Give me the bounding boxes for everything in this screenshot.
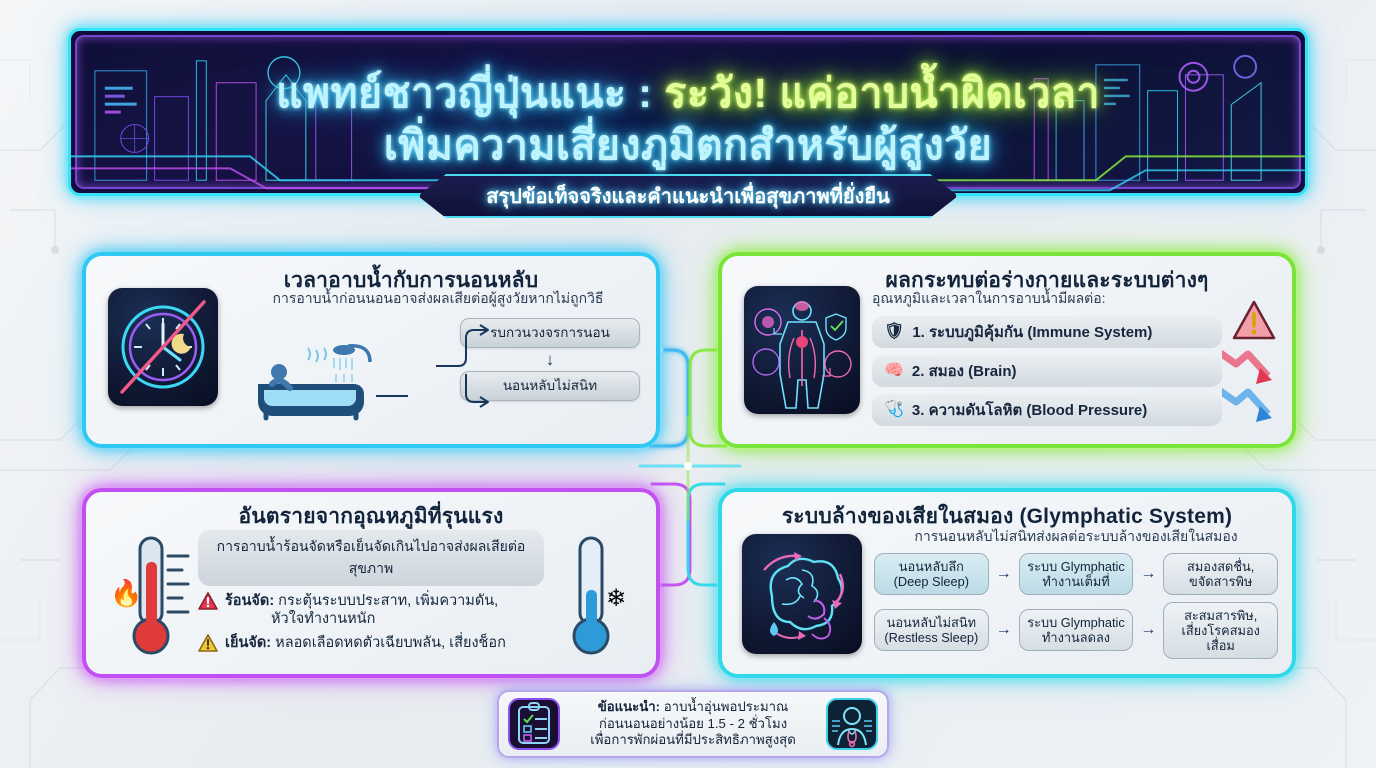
title-part-cyan: แพทย์ชาวญี่ปุ่นแนะ : bbox=[276, 70, 664, 116]
yellow-warning-icon bbox=[198, 634, 218, 653]
list-item[interactable]: 🧠 2. สมอง (Brain) bbox=[872, 355, 1222, 387]
flow-row-deep-sleep: นอนหลับลึก(Deep Sleep) → ระบบ Glymphatic… bbox=[874, 553, 1278, 595]
flame-icon: 🔥 bbox=[110, 578, 142, 608]
warning-hot-text-2: หัวใจทำงานหนัก bbox=[225, 610, 498, 628]
doctor-avatar-icon bbox=[825, 697, 879, 751]
snowflake-icon: ❄ bbox=[606, 585, 626, 612]
warning-row-cold: เย็นจัด: หลอดเลือดหดตัวเฉียบพลัน, เสี่ยง… bbox=[198, 634, 544, 653]
cold-thermometer-icon: ❄ bbox=[544, 532, 640, 662]
card4-title: ระบบล้างของเสียในสมอง (Glymphatic System… bbox=[738, 504, 1276, 529]
recommendation-text: ข้อแนะนำ: อาบน้ำอุ่นพอประมาณ ก่อนนอนอย่า… bbox=[569, 699, 817, 749]
list-item-label: 3. ความดันโลหิต (Blood Pressure) bbox=[912, 398, 1147, 422]
arrow-right-icon: → bbox=[993, 621, 1015, 639]
list-item[interactable]: 🛡 1. ระบบภูมิคุ้มกัน (Immune System) bbox=[872, 316, 1222, 348]
red-warning-icon bbox=[198, 592, 218, 611]
list-item-label: 1. ระบบภูมิคุ้มกัน (Immune System) bbox=[912, 320, 1152, 344]
recommendation-line2: ก่อนนอนอย่างน้อย 1.5 - 2 ชั่วโมง bbox=[569, 716, 817, 733]
human-anatomy-systems-icon bbox=[744, 286, 860, 414]
no-clock-night-icon bbox=[108, 288, 218, 406]
arrow-right-icon: → bbox=[1137, 621, 1159, 639]
flow-box-c[interactable]: สะสมสารพิษ,เสี่ยงโรคสมองเสื่อม bbox=[1163, 602, 1278, 659]
warning-cold-text: หลอดเลือดหดตัวเฉียบพลัน, เสี่ยงช็อก bbox=[271, 635, 506, 651]
warning-hot-label: ร้อนจัด: bbox=[225, 593, 274, 609]
card3-note: การอาบน้ำร้อนจัดหรือเย็นจัดเกินไปอาจส่งผ… bbox=[198, 530, 544, 586]
card-bath-time-sleep[interactable]: เวลาอาบน้ำกับการนอนหลับ การอาบน้ำก่อนนอน… bbox=[82, 252, 660, 448]
shield-icon: 🛡 bbox=[884, 324, 904, 340]
title-line-2: เพิ่มความเสี่ยงภูมิตกสำหรับผู้สูงวัย bbox=[71, 119, 1305, 171]
card-temperature-danger[interactable]: อันตรายจากอุณหภูมิที่รุนแรง 🔥 ❄ การอาบน้… bbox=[82, 488, 660, 678]
card2-subtitle: อุณหภูมิและเวลาในการอาบน้ำมีผลต่อ: bbox=[872, 290, 1222, 308]
header-subtitle-banner: สรุปข้อเท็จจริงและคำแนะนำเพื่อสุขภาพที่ย… bbox=[418, 174, 958, 218]
list-item[interactable]: 🩺 3. ความดันโลหิต (Blood Pressure) bbox=[872, 394, 1222, 426]
flow-row-restless-sleep: นอนหลับไม่สนิท(Restless Sleep) → ระบบ Gl… bbox=[874, 602, 1278, 659]
hot-thermometer-icon: 🔥 bbox=[102, 532, 198, 662]
flow-box-b[interactable]: ระบบ Glymphaticทำงานลดลง bbox=[1019, 609, 1134, 651]
title-line-1: แพทย์ชาวญี่ปุ่นแนะ : ระวัง! แค่อาบน้ำผิด… bbox=[71, 67, 1305, 119]
header-frame: แพทย์ชาวญี่ปุ่นแนะ : ระวัง! แค่อาบน้ำผิด… bbox=[68, 28, 1308, 196]
flow-box-b[interactable]: ระบบ Glymphaticทำงานเต็มที่ bbox=[1019, 553, 1134, 595]
list-item-label: 2. สมอง (Brain) bbox=[912, 359, 1017, 383]
warning-triangle-icon bbox=[1234, 302, 1274, 338]
flow-box-c[interactable]: สมองสดชื่น,ขจัดสารพิษ bbox=[1163, 553, 1278, 595]
recommendation-line1: อาบน้ำอุ่นพอประมาณ bbox=[660, 699, 788, 714]
card-glymphatic-system[interactable]: ระบบล้างของเสียในสมอง (Glymphatic System… bbox=[718, 488, 1296, 678]
person-in-bathtub-shower-icon bbox=[236, 334, 436, 424]
flow-box-a[interactable]: นอนหลับลึก(Deep Sleep) bbox=[874, 553, 989, 595]
recommendation-label: ข้อแนะนำ: bbox=[598, 699, 660, 714]
header-banner: แพทย์ชาวญี่ปุ่นแนะ : ระวัง! แค่อาบน้ำผิด… bbox=[68, 28, 1308, 196]
warning-cold-label: เย็นจัด: bbox=[225, 635, 271, 651]
arrow-right-icon: → bbox=[1137, 565, 1159, 583]
card2-impact-list: 🛡 1. ระบบภูมิคุ้มกัน (Immune System) 🧠 2… bbox=[872, 316, 1222, 426]
card1-subtitle: การอาบน้ำก่อนนอนอาจส่งผลเสียต่อผู้สูงวัย… bbox=[236, 290, 640, 308]
blood-pressure-monitor-icon: 🩺 bbox=[884, 402, 904, 418]
checklist-clipboard-icon bbox=[507, 697, 561, 751]
card4-subtitle: การนอนหลับไม่สนิทส่งผลต่อระบบล้างของเสีย… bbox=[874, 528, 1278, 546]
brain-cleansing-icon bbox=[742, 534, 862, 654]
warning-row-hot: ร้อนจัด: กระตุ้นระบบประสาท, เพิ่มความดัน… bbox=[198, 592, 544, 628]
recommendation-footer[interactable]: ข้อแนะนำ: อาบน้ำอุ่นพอประมาณ ก่อนนอนอย่า… bbox=[497, 690, 889, 758]
card4-flow-grid: นอนหลับลึก(Deep Sleep) → ระบบ Glymphatic… bbox=[874, 553, 1278, 659]
brain-icon: 🧠 bbox=[884, 363, 904, 379]
arrow-right-icon: → bbox=[993, 565, 1015, 583]
card2-warning-arrows bbox=[1222, 292, 1286, 432]
card1-branch-arrows-icon bbox=[436, 316, 496, 416]
header-title-block: แพทย์ชาวญี่ปุ่นแนะ : ระวัง! แค่อาบน้ำผิด… bbox=[71, 67, 1305, 172]
warning-hot-text: กระตุ้นระบบประสาท, เพิ่มความดัน, bbox=[274, 593, 498, 609]
card-body-impacts[interactable]: ผลกระทบต่อร่างกายและระบบต่างๆ อุณหภูมิแล… bbox=[718, 252, 1296, 448]
flow-box-a[interactable]: นอนหลับไม่สนิท(Restless Sleep) bbox=[874, 609, 989, 651]
title-part-green: ระวัง! แค่อาบน้ำผิดเวลา bbox=[664, 70, 1100, 116]
recommendation-line3: เพื่อการพักผ่อนที่มีประสิทธิภาพสูงสุด bbox=[569, 732, 817, 749]
header-subtitle-text: สรุปข้อเท็จจริงและคำแนะนำเพื่อสุขภาพที่ย… bbox=[486, 180, 890, 212]
